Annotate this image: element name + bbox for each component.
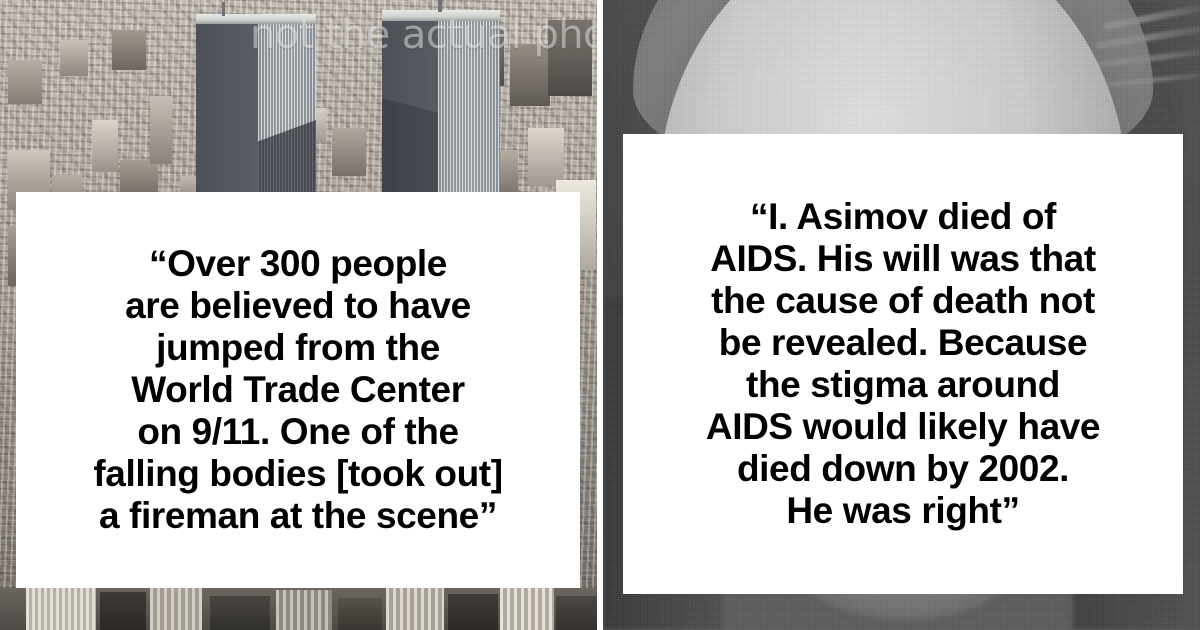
quote-card-right: “I. Asimov died of AIDS. His will was th… [623,134,1183,594]
panel-right: “I. Asimov died of AIDS. His will was th… [603,0,1200,630]
quote-text-right: “I. Asimov died of AIDS. His will was th… [706,196,1100,532]
quote-card-left: “Over 300 people are believed to have ju… [16,192,580,588]
panel-left: not the actual photo “Over 300 people ar… [0,0,597,630]
wtc-tower-right [382,10,500,202]
wtc-antenna-left [222,2,225,16]
quote-text-left: “Over 300 people are believed to have ju… [93,243,502,537]
wtc-tower-left [196,14,316,202]
quote-board: not the actual photo “Over 300 people ar… [0,0,1200,630]
wtc-antenna-right [438,0,442,12]
